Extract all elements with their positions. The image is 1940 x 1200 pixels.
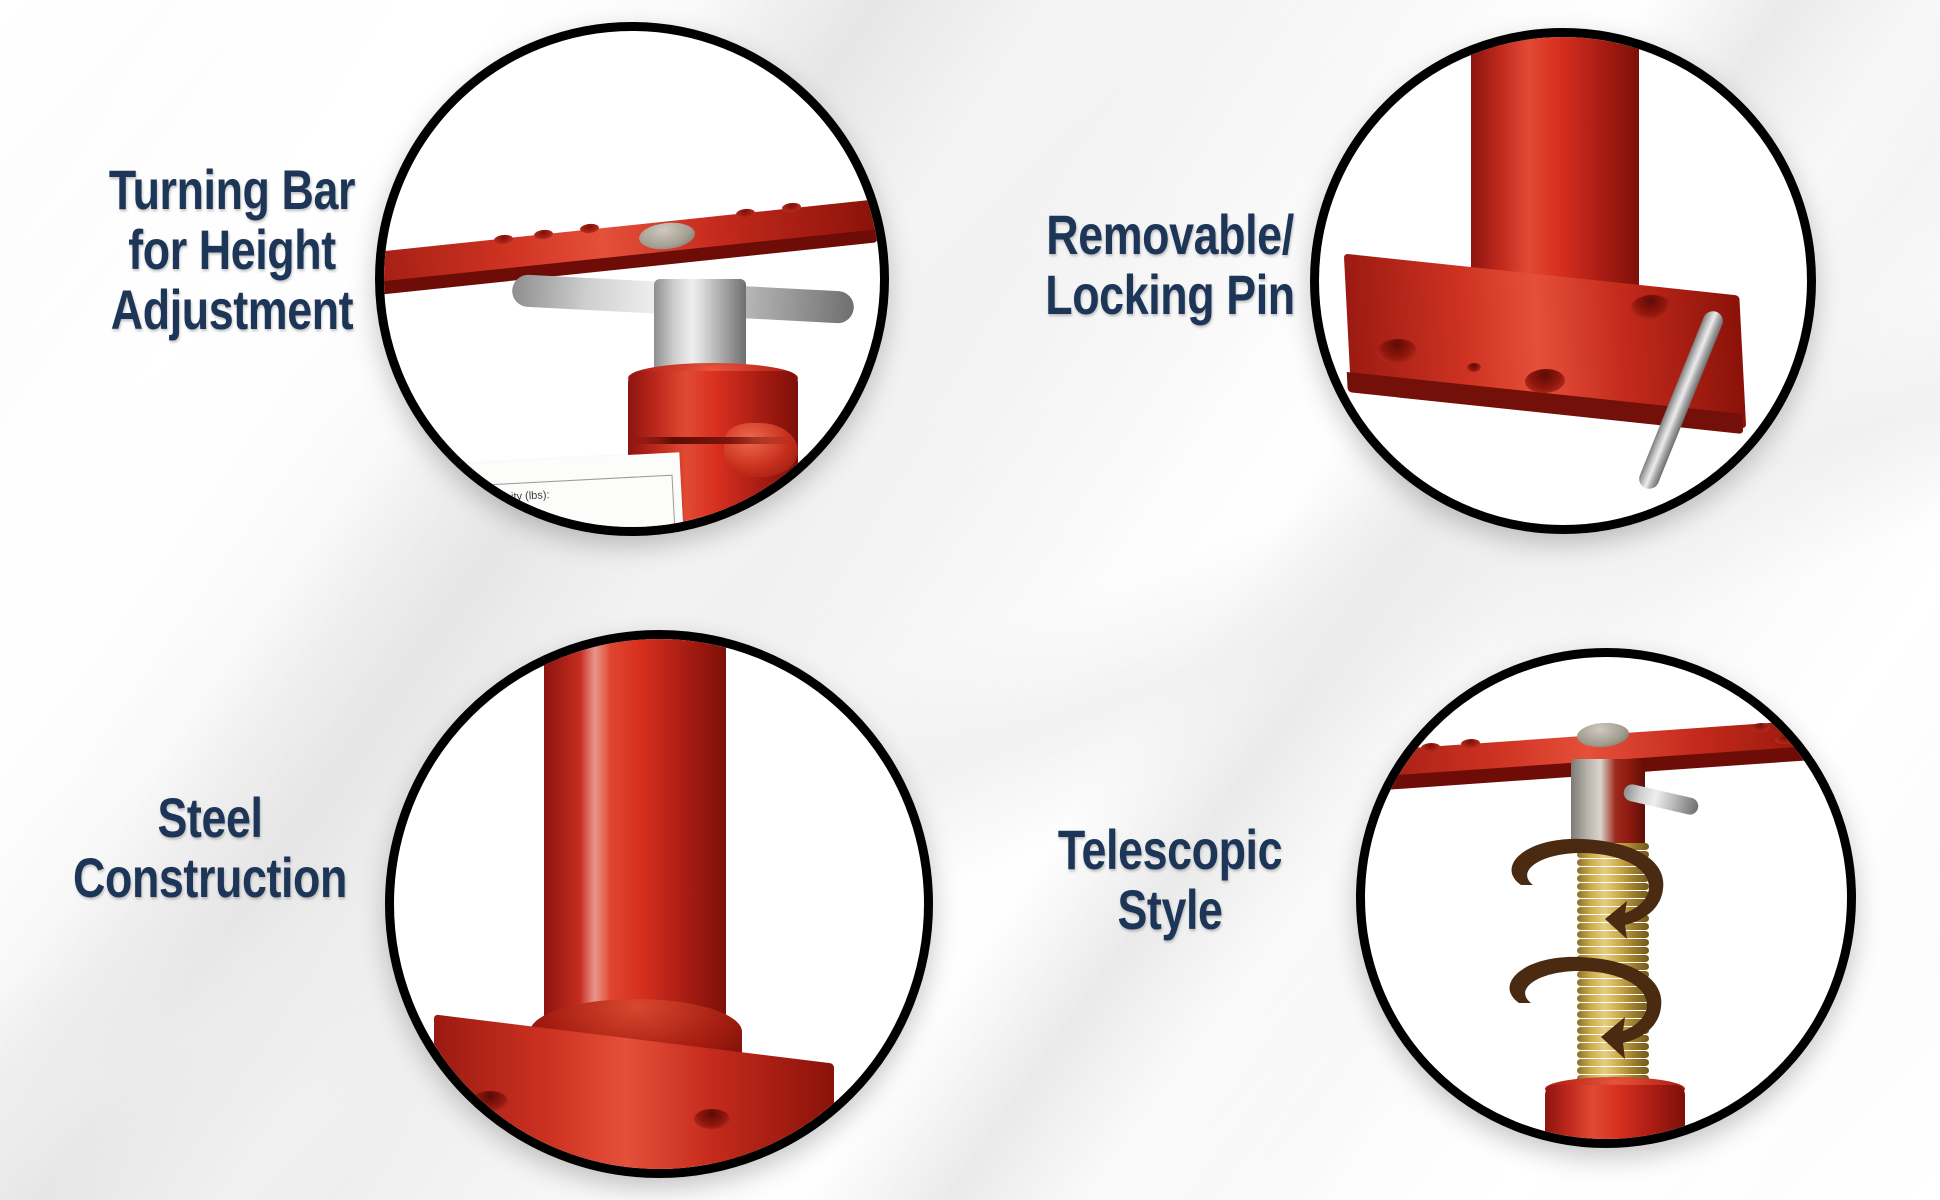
weld-bead — [724, 423, 798, 477]
steel-column — [544, 639, 726, 1039]
caption-line: Adjustment — [64, 280, 400, 340]
steel-construction-illustration — [394, 639, 924, 1169]
caption-line: Construction — [42, 848, 378, 908]
bolt-hole-icon — [694, 1109, 730, 1129]
caption-line: Telescopic — [1002, 820, 1338, 880]
rotation-arrow-icon — [1485, 827, 1745, 1117]
feature-caption-locking-pin: Removable/ Locking Pin — [1002, 205, 1338, 325]
feature-image-turning-bar: ted Load Capacity (lbs): h Extension: 9,… — [375, 22, 889, 536]
bolt-hole-icon — [472, 1091, 508, 1111]
feature-caption-telescopic-style: Telescopic Style — [1002, 820, 1338, 940]
feature-image-telescopic-style — [1356, 648, 1856, 1148]
feature-image-locking-pin — [1310, 28, 1816, 534]
infographic-canvas: Turning Bar for Height Adjustment Remova… — [0, 0, 1940, 1200]
feature-caption-turning-bar: Turning Bar for Height Adjustment — [64, 160, 400, 340]
caption-line: Turning Bar — [64, 160, 400, 220]
caption-line: Removable/ — [1002, 205, 1338, 265]
caption-line: Style — [1002, 880, 1338, 940]
caption-line: for Height — [64, 220, 400, 280]
caption-line: Steel — [42, 788, 378, 848]
feature-image-steel-construction — [385, 630, 933, 1178]
locking-pin-illustration — [1319, 37, 1807, 525]
cylinder-seam — [632, 437, 794, 444]
column-highlight — [580, 639, 610, 1039]
turning-bar-illustration: ted Load Capacity (lbs): h Extension: 9,… — [384, 31, 880, 527]
feature-caption-steel-construction: Steel Construction — [42, 788, 378, 908]
telescopic-style-illustration — [1365, 657, 1847, 1139]
caption-line: Locking Pin — [1002, 265, 1338, 325]
product-spec-label: ted Load Capacity (lbs): h Extension: 9,… — [420, 452, 685, 527]
